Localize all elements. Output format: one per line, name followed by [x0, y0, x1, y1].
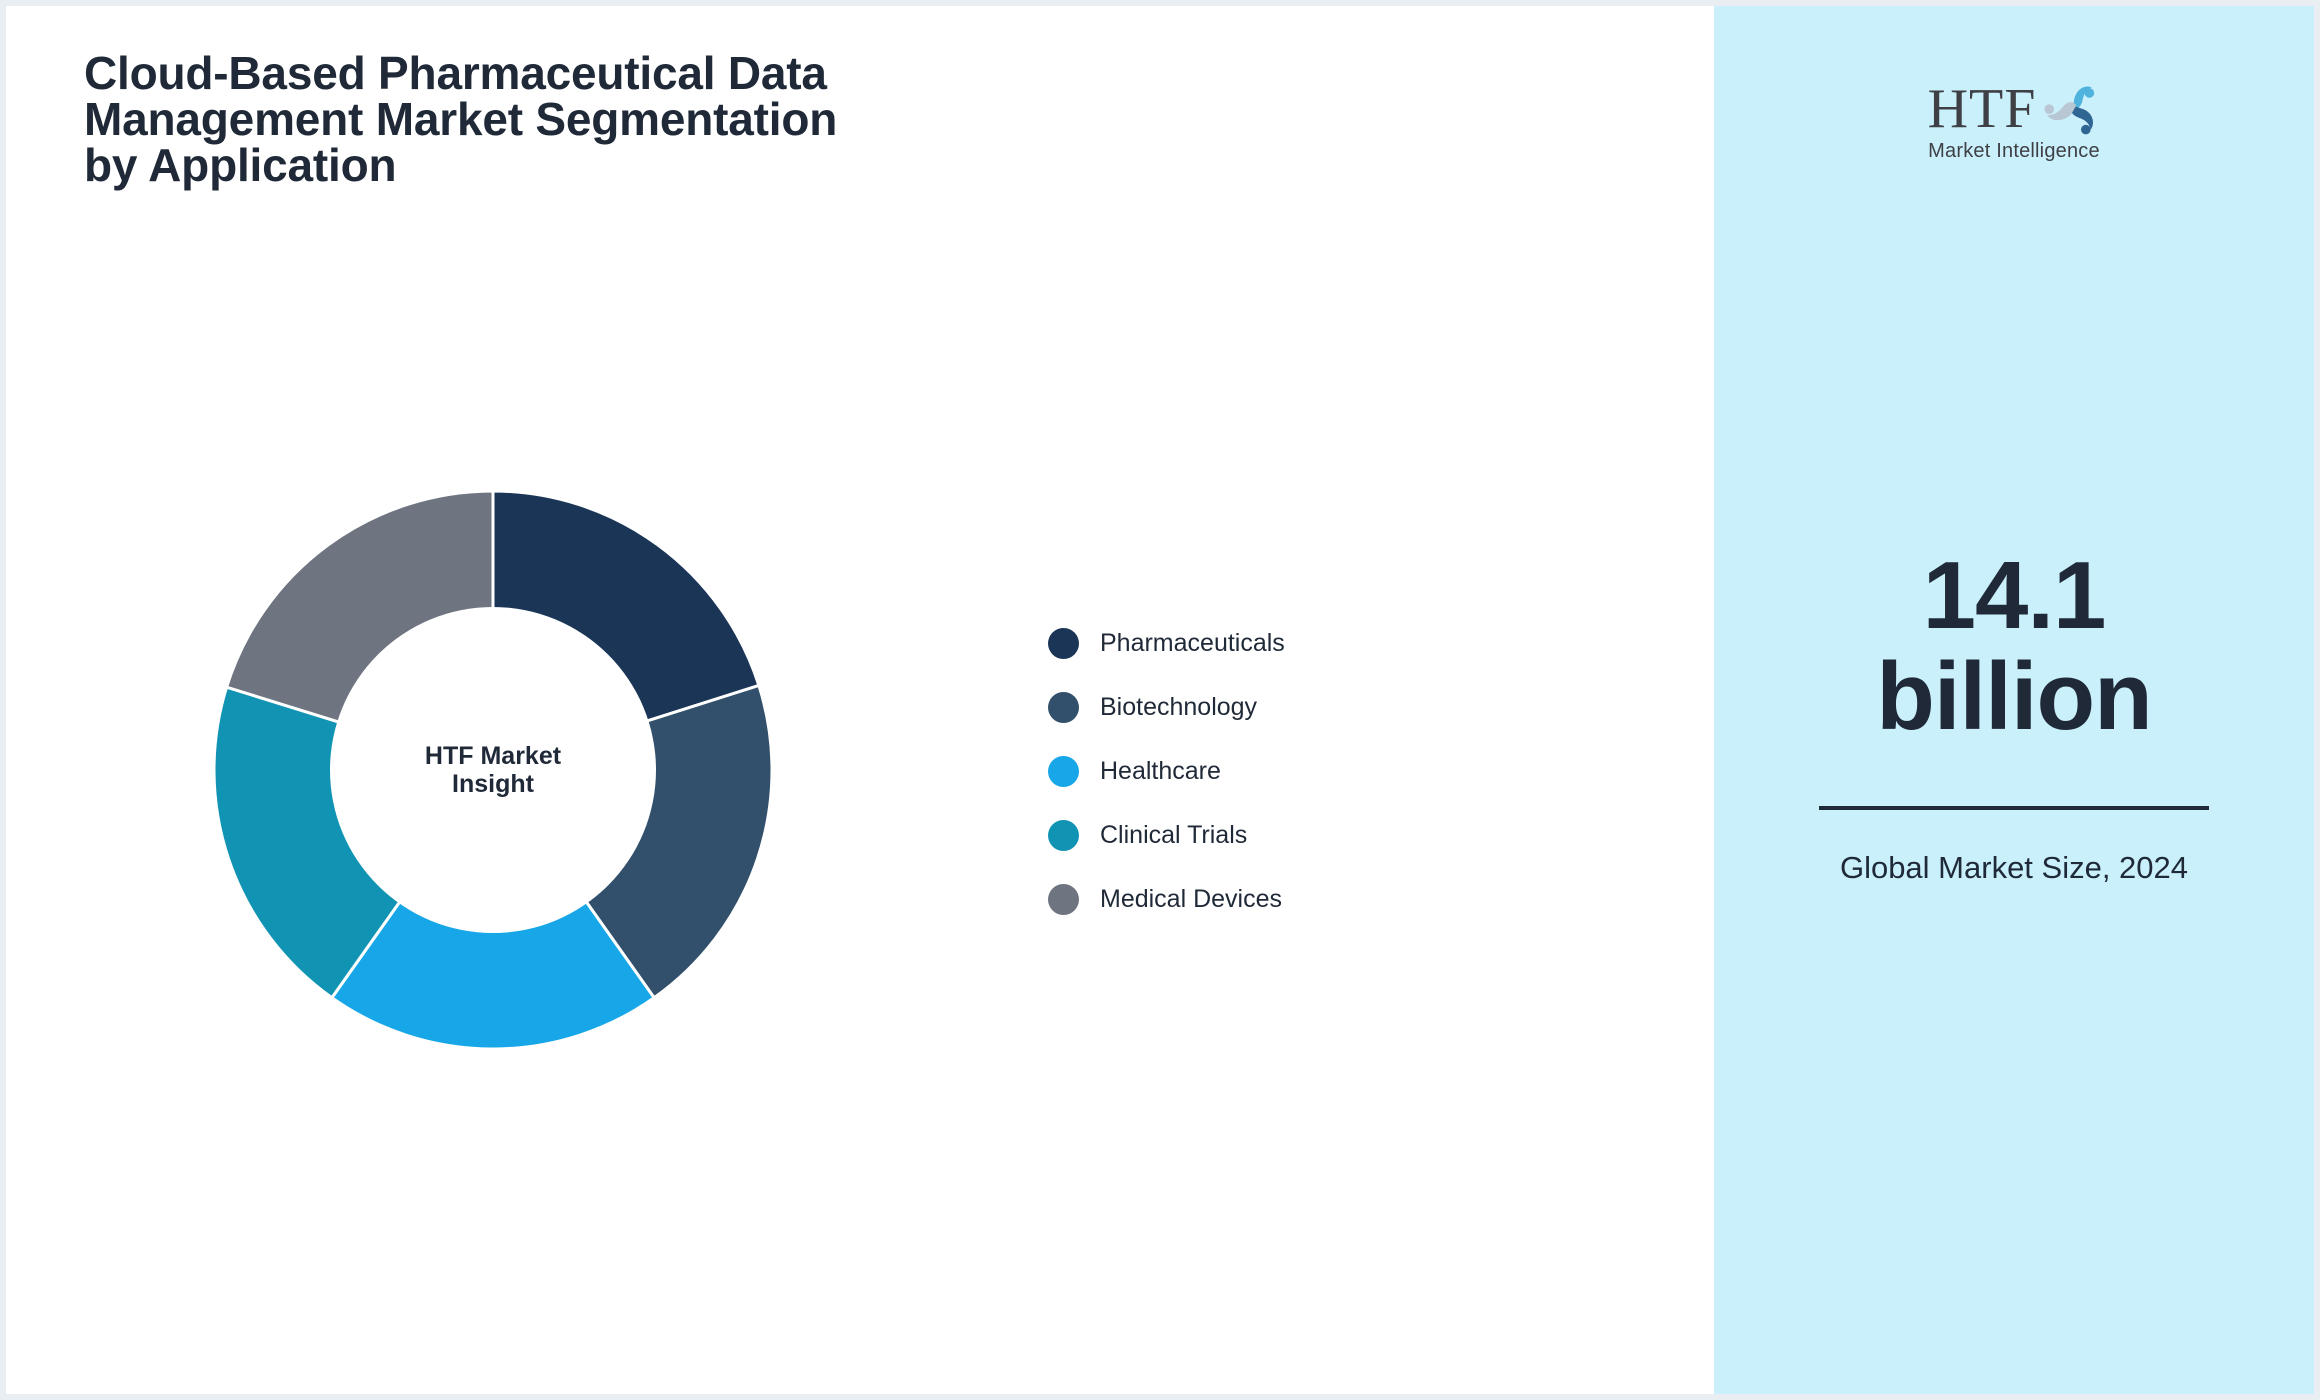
legend-item[interactable]: Clinical Trials: [1048, 818, 1285, 852]
brand-logo: HTF Market Intelligence: [1889, 76, 2139, 163]
donut-chart-svg: [213, 490, 773, 1050]
legend-item-label: Clinical Trials: [1100, 821, 1247, 850]
chart-legend: PharmaceuticalsBiotechnologyHealthcareCl…: [1048, 626, 1285, 916]
legend-item[interactable]: Biotechnology: [1048, 690, 1285, 724]
page-title-line-2: Management Market Segmentation: [84, 96, 1064, 142]
donut-chart: HTF Market Insight: [213, 490, 773, 1050]
page-title-line-1: Cloud-Based Pharmaceutical Data: [84, 50, 1064, 96]
page-title: Cloud-Based Pharmaceutical Data Manageme…: [84, 50, 1064, 188]
legend-swatch-icon: [1048, 756, 1079, 787]
legend-swatch-icon: [1048, 884, 1079, 915]
legend-item-label: Pharmaceuticals: [1100, 629, 1285, 658]
three-figures-circle-icon: [2038, 78, 2100, 138]
infographic-canvas: Cloud-Based Pharmaceutical Data Manageme…: [0, 0, 2320, 1400]
stat-divider: [1819, 806, 2209, 810]
logo-wordmark: HTF: [1928, 80, 2037, 138]
legend-item[interactable]: Healthcare: [1048, 754, 1285, 788]
legend-swatch-icon: [1048, 628, 1079, 659]
legend-item[interactable]: Pharmaceuticals: [1048, 626, 1285, 660]
legend-swatch-icon: [1048, 692, 1079, 723]
legend-swatch-icon: [1048, 820, 1079, 851]
stat-caption: Global Market Size, 2024: [1804, 848, 2224, 888]
legend-item-label: Medical Devices: [1100, 885, 1282, 914]
stat-block: 14.1 billion Global Market Size, 2024: [1804, 546, 2224, 887]
main-content-panel: Cloud-Based Pharmaceutical Data Manageme…: [6, 6, 1714, 1394]
stat-value: 14.1 billion: [1804, 546, 2224, 748]
legend-item[interactable]: Medical Devices: [1048, 882, 1285, 916]
logo-mark: HTF: [1928, 76, 2101, 138]
sidebar-panel: HTF Market Intelligence 14.1 billion Glo: [1714, 6, 2314, 1394]
legend-item-label: Biotechnology: [1100, 693, 1257, 722]
logo-tagline: Market Intelligence: [1928, 140, 2100, 163]
legend-item-label: Healthcare: [1100, 757, 1221, 786]
donut-hole: [330, 607, 656, 933]
page-title-line-3: by Application: [84, 142, 1064, 188]
